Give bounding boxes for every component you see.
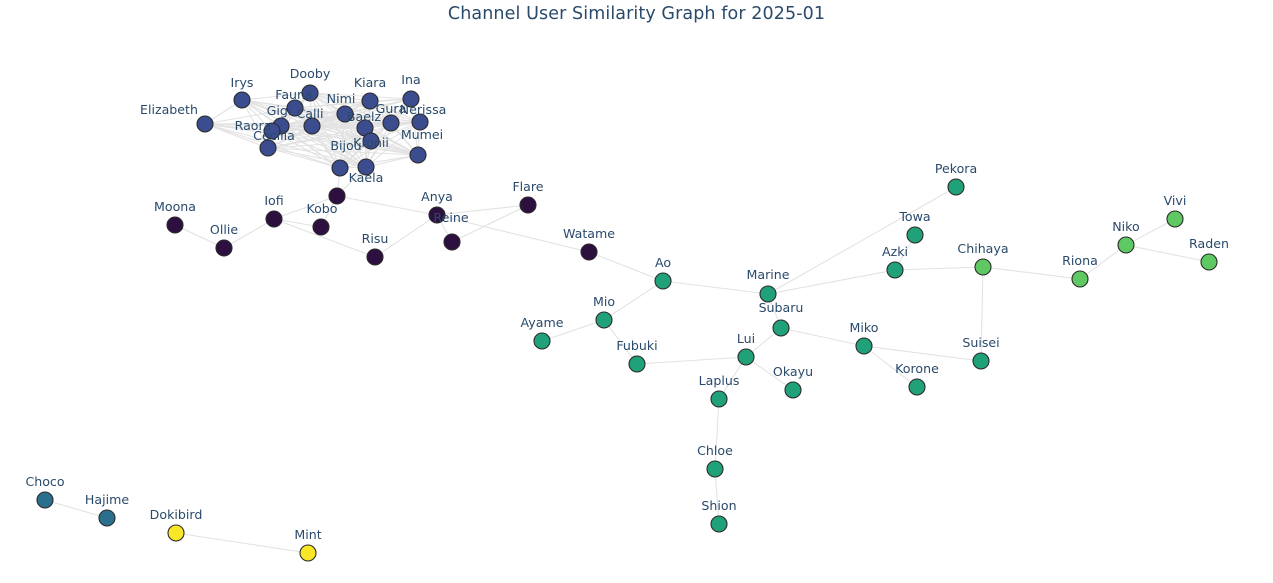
- graph-node[interactable]: [99, 510, 115, 526]
- graph-node-label: Laplus: [699, 373, 740, 388]
- graph-node-label: Ina: [401, 72, 420, 87]
- graph-node-label: Fauna: [275, 87, 313, 102]
- graph-node-label: Reine: [433, 210, 468, 225]
- graph-node[interactable]: [785, 382, 801, 398]
- graph-node-label: Vivi: [1164, 193, 1187, 208]
- graph-node[interactable]: [167, 217, 183, 233]
- graph-node[interactable]: [707, 461, 723, 477]
- graph-node-label: Ollie: [210, 222, 238, 237]
- graph-node-label: Marine: [747, 267, 790, 282]
- network-graph-figure: Channel User Similarity Graph for 2025-0…: [0, 0, 1273, 583]
- graph-node-label: Chihaya: [957, 241, 1008, 256]
- graph-node-label: Shion: [701, 498, 736, 513]
- graph-node-label: Okayu: [773, 364, 813, 379]
- graph-node-label: Bijou: [330, 138, 361, 153]
- graph-node-label: Nerissa: [400, 102, 447, 117]
- graph-node[interactable]: [383, 115, 399, 131]
- graph-node[interactable]: [581, 244, 597, 260]
- graph-edge: [637, 357, 746, 364]
- graph-node-label: Dooby: [290, 66, 331, 81]
- graph-node[interactable]: [216, 240, 232, 256]
- graph-node-label: Ayame: [521, 315, 564, 330]
- graph-node[interactable]: [168, 525, 184, 541]
- graph-node-label: Kaela: [349, 170, 384, 185]
- graph-node-label: Watame: [563, 226, 615, 241]
- graph-node[interactable]: [300, 545, 316, 561]
- graph-node[interactable]: [1072, 271, 1088, 287]
- graph-node-label: Kobo: [306, 201, 337, 216]
- graph-node-label: Lui: [737, 331, 755, 346]
- graph-node-label: Suisei: [962, 335, 999, 350]
- graph-node-label: Baelz: [347, 109, 382, 124]
- graph-node-label: Choco: [25, 474, 64, 489]
- graph-node-label: Korone: [895, 361, 939, 376]
- nodes-layer: [37, 85, 1217, 561]
- graph-node[interactable]: [1118, 237, 1134, 253]
- graph-node[interactable]: [711, 516, 727, 532]
- graph-node-label: Ao: [655, 255, 671, 270]
- graph-node[interactable]: [444, 234, 460, 250]
- graph-node-label: Risu: [362, 231, 389, 246]
- graph-node-label: Mio: [593, 294, 615, 309]
- graph-node[interactable]: [773, 320, 789, 336]
- graph-node-label: Moona: [154, 199, 196, 214]
- graph-node-label: Mumei: [401, 127, 443, 142]
- graph-node[interactable]: [973, 353, 989, 369]
- graph-node-label: Azki: [882, 244, 908, 259]
- graph-edge: [176, 533, 308, 553]
- graph-node-label: Miko: [850, 320, 879, 335]
- graph-node-label: Pekora: [935, 161, 977, 176]
- graph-node[interactable]: [1201, 254, 1217, 270]
- labels-layer: ElizabethIrysDoobyFaunaGigiCalliRaoraCec…: [25, 66, 1229, 542]
- graph-node-label: Niko: [1112, 219, 1140, 234]
- graph-node-label: Flare: [512, 179, 543, 194]
- graph-edge: [589, 252, 663, 281]
- graph-node[interactable]: [266, 211, 282, 227]
- graph-node-label: Riona: [1062, 253, 1098, 268]
- graph-node[interactable]: [596, 312, 612, 328]
- graph-node-label: Fubuki: [616, 338, 657, 353]
- graph-canvas: ElizabethIrysDoobyFaunaGigiCalliRaoraCec…: [0, 0, 1273, 583]
- graph-node-label: Nimi: [327, 91, 356, 106]
- graph-node-label: Subaru: [759, 300, 804, 315]
- graph-node-label: Anya: [421, 189, 453, 204]
- graph-node[interactable]: [37, 492, 53, 508]
- graph-edge: [715, 399, 719, 469]
- graph-node[interactable]: [234, 92, 250, 108]
- graph-node[interactable]: [332, 160, 348, 176]
- graph-node-label: Elizabeth: [140, 102, 198, 117]
- graph-node-label: Kiara: [354, 75, 386, 90]
- graph-node-label: Calli: [296, 106, 323, 121]
- graph-edge: [983, 267, 1080, 279]
- graph-node[interactable]: [367, 249, 383, 265]
- graph-node[interactable]: [738, 349, 754, 365]
- graph-edge: [895, 267, 983, 270]
- graph-node-label: Towa: [898, 209, 930, 224]
- edges-layer: [45, 93, 1209, 553]
- graph-node[interactable]: [534, 333, 550, 349]
- graph-node[interactable]: [520, 197, 536, 213]
- graph-edge: [768, 187, 956, 294]
- graph-node[interactable]: [909, 379, 925, 395]
- graph-node[interactable]: [975, 259, 991, 275]
- graph-node[interactable]: [410, 147, 426, 163]
- graph-node[interactable]: [887, 262, 903, 278]
- graph-node-label: Cecilia: [253, 128, 295, 143]
- graph-node[interactable]: [907, 227, 923, 243]
- graph-edge: [663, 281, 768, 294]
- graph-node[interactable]: [313, 219, 329, 235]
- graph-node[interactable]: [197, 116, 213, 132]
- graph-node[interactable]: [711, 391, 727, 407]
- graph-node-label: Hajime: [85, 492, 129, 507]
- graph-node[interactable]: [948, 179, 964, 195]
- graph-node[interactable]: [1167, 211, 1183, 227]
- graph-node[interactable]: [856, 338, 872, 354]
- graph-node-label: Raden: [1189, 236, 1229, 251]
- graph-node[interactable]: [629, 356, 645, 372]
- graph-node-label: Irys: [231, 75, 254, 90]
- graph-node-label: Gigi: [267, 103, 292, 118]
- graph-node-label: Iofi: [264, 193, 283, 208]
- graph-node-label: Mint: [294, 527, 321, 542]
- graph-node-label: Chloe: [697, 443, 733, 458]
- graph-node-label: Dokibird: [150, 507, 203, 522]
- graph-node[interactable]: [655, 273, 671, 289]
